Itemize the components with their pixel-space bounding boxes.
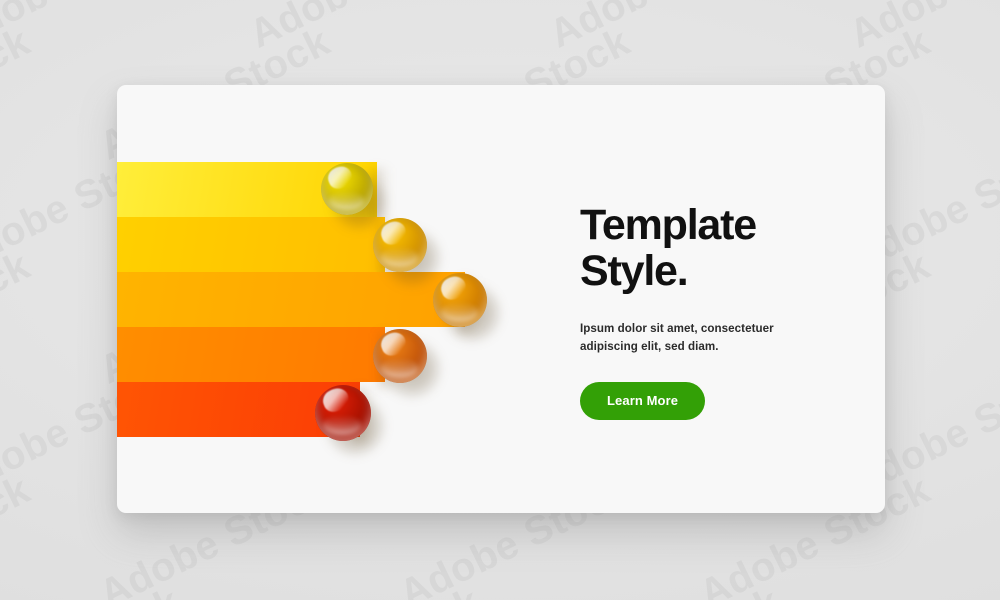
sphere-yellow-rim	[321, 163, 373, 215]
body-text: Ipsum dolor sit amet, consectetuer adipi…	[580, 320, 870, 356]
sphere-golden-rim	[373, 218, 427, 272]
sphere-deep-orange-body	[373, 329, 427, 383]
sphere-yellow	[321, 163, 373, 215]
sphere-red-body	[315, 385, 371, 441]
stripe-orange	[117, 327, 385, 382]
page-title: Template Style.	[580, 203, 870, 294]
sphere-deep-orange	[373, 329, 427, 383]
sphere-red	[315, 385, 371, 441]
sphere-deep-orange-rim	[373, 329, 427, 383]
sphere-golden	[373, 218, 427, 272]
learn-more-button[interactable]: Learn More	[580, 382, 705, 420]
sphere-amber-body	[433, 273, 487, 327]
content-column: Template Style. Ipsum dolor sit amet, co…	[580, 203, 870, 420]
template-card: Template Style. Ipsum dolor sit amet, co…	[117, 85, 885, 513]
sphere-yellow-body	[321, 163, 373, 215]
sphere-amber	[433, 273, 487, 327]
sphere-red-rim	[315, 385, 371, 441]
sphere-golden-body	[373, 218, 427, 272]
sphere-amber-rim	[433, 273, 487, 327]
